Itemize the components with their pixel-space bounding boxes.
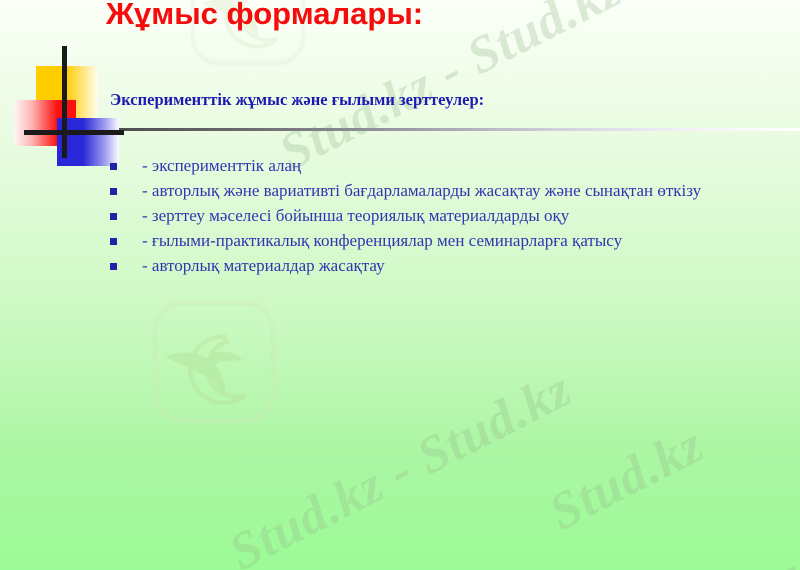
logo-horizontal-bar bbox=[24, 130, 124, 135]
section-divider bbox=[100, 128, 800, 131]
slide-title: Жұмыс формалары: bbox=[106, 0, 423, 32]
square-bullet-icon bbox=[110, 263, 117, 270]
watermark-text-bottom: Stud.kz bbox=[640, 545, 800, 570]
bullet-list: - эксперименттік алаң - авторлық және ва… bbox=[110, 154, 790, 279]
list-item-label: - ғылыми-практикалық конференциялар мен … bbox=[142, 229, 790, 252]
square-bullet-icon bbox=[110, 163, 117, 170]
watermark-layer: Stud.kz - Stud.kz Stud.kz - Stud.kz Stud… bbox=[0, 0, 800, 570]
slide-subtitle: Эксперименттік жұмыс және ғылыми зерттеу… bbox=[110, 90, 484, 110]
hummingbird-watermark-icon bbox=[150, 298, 278, 426]
square-bullet-icon bbox=[110, 238, 117, 245]
list-item-label: - эксперименттік алаң bbox=[142, 154, 790, 177]
list-item: - эксперименттік алаң bbox=[110, 154, 790, 177]
watermark-text-middle: Stud.kz - Stud.kz bbox=[220, 360, 581, 570]
watermark-text-lower: Stud.kz bbox=[540, 415, 713, 542]
list-item: - ғылыми-практикалық конференциялар мен … bbox=[110, 229, 790, 252]
square-bullet-icon bbox=[110, 213, 117, 220]
list-item-label: - авторлық және вариативті бағдарламалар… bbox=[142, 179, 762, 202]
list-item: - зерттеу мәселесі бойынша теориялық мат… bbox=[110, 204, 790, 227]
logo-vertical-bar bbox=[62, 46, 67, 158]
decorative-logo bbox=[14, 44, 118, 156]
list-item-label: - зерттеу мәселесі бойынша теориялық мат… bbox=[142, 204, 790, 227]
presentation-slide: Stud.kz - Stud.kz Stud.kz - Stud.kz Stud… bbox=[0, 0, 800, 570]
list-item-label: - авторлық материалдар жасақтау bbox=[142, 254, 790, 277]
list-item: - авторлық материалдар жасақтау bbox=[110, 254, 790, 277]
list-item: - авторлық және вариативті бағдарламалар… bbox=[110, 179, 790, 202]
square-bullet-icon bbox=[110, 188, 117, 195]
